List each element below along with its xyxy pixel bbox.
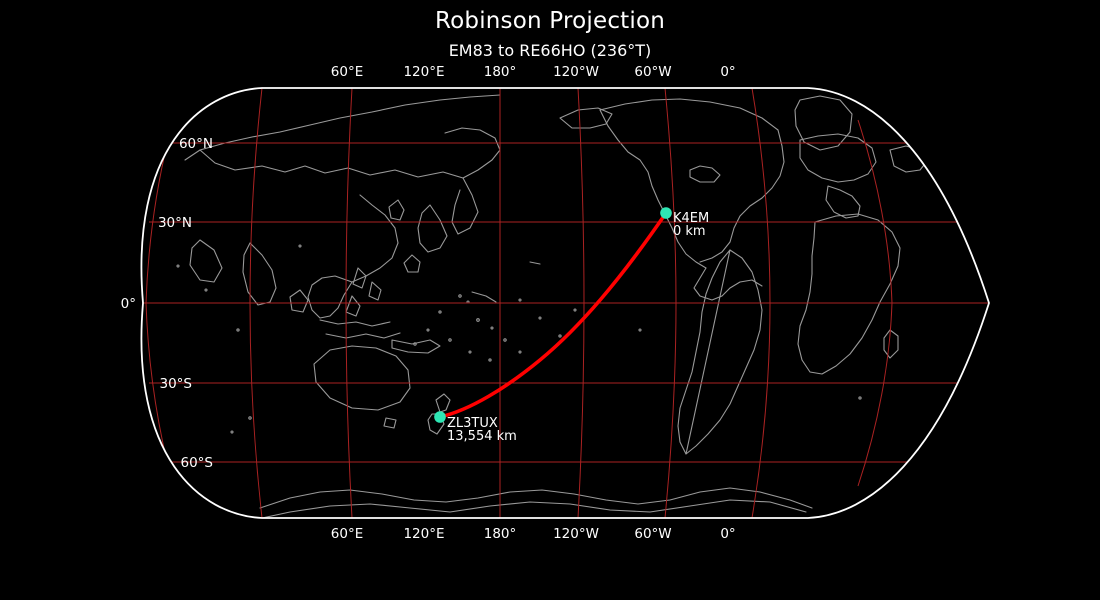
left-tick-30N: 30°N [158, 215, 192, 231]
left-tick-30S: 30°S [160, 376, 193, 392]
left-tick-0: 0° [121, 296, 136, 312]
top-tick-1: 120°E [403, 64, 444, 80]
left-tick-60N: 60°N [179, 136, 213, 152]
top-tick-4: 60°W [634, 64, 671, 80]
marker-distance-label: 13,554 km [447, 429, 517, 444]
bottom-tick-3: 120°W [553, 526, 599, 542]
bottom-tick-2: 180° [484, 526, 517, 542]
top-tick-2: 180° [484, 64, 517, 80]
map-body [140, 85, 995, 525]
marker-distance-label: 0 km [673, 224, 706, 239]
world-map-svg: K4EM 0 km ZL3TUX 13,554 km 60°E 120°E 18… [0, 0, 1100, 600]
bottom-tick-5: 0° [720, 526, 735, 542]
top-tick-5: 0° [720, 64, 735, 80]
top-tick-3: 120°W [553, 64, 599, 80]
map-canvas: Robinson Projection EM83 to RE66HO (236°… [0, 0, 1100, 600]
bottom-tick-0: 60°E [331, 526, 363, 542]
bottom-tick-4: 60°W [634, 526, 671, 542]
marker-dot[interactable] [660, 207, 672, 219]
bottom-tick-1: 120°E [403, 526, 444, 542]
left-tick-60S: 60°S [181, 455, 214, 471]
top-tick-0: 60°E [331, 64, 363, 80]
top-axis-labels: 60°E 120°E 180° 120°W 60°W 0° [331, 64, 736, 80]
bottom-axis-labels: 60°E 120°E 180° 120°W 60°W 0° [331, 526, 736, 542]
marker-dot[interactable] [434, 411, 446, 423]
